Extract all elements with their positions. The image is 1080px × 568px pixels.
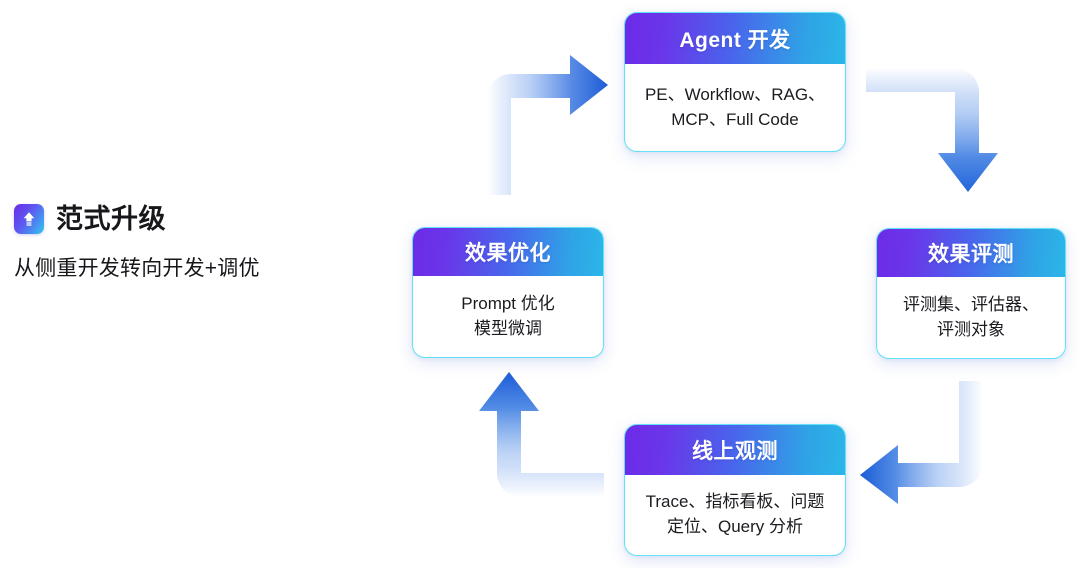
- card-body: Prompt 优化 模型微调: [413, 276, 603, 357]
- card-title: 效果评测: [877, 229, 1065, 277]
- arrow-up-badge-icon: [14, 204, 44, 234]
- card-body-line: PE、Workflow、RAG、: [645, 83, 825, 108]
- card-body-line: 评测对象: [903, 318, 1039, 343]
- card-body-line: 模型微调: [461, 317, 555, 342]
- card-body: 评测集、评估器、 评测对象: [877, 277, 1065, 358]
- card-body-line: Prompt 优化: [461, 292, 555, 317]
- card-body-line: Trace、指标看板、问题: [646, 490, 825, 515]
- card-effect-optimization[interactable]: 效果优化 Prompt 优化 模型微调: [412, 227, 604, 358]
- card-body-line: MCP、Full Code: [645, 108, 825, 133]
- arrow-optimize-to-agent: [487, 55, 608, 195]
- card-title: Agent 开发: [625, 13, 845, 64]
- arrow-agent-to-eval: [866, 68, 998, 192]
- card-body-line: 评测集、评估器、: [903, 293, 1039, 318]
- arrow-eval-to-observe: [860, 381, 983, 504]
- card-body: Trace、指标看板、问题 定位、Query 分析: [625, 475, 845, 555]
- card-body: PE、Workflow、RAG、 MCP、Full Code: [625, 64, 845, 151]
- card-title: 线上观测: [625, 425, 845, 475]
- card-online-observation[interactable]: 线上观测 Trace、指标看板、问题 定位、Query 分析: [624, 424, 846, 556]
- card-body-line: 定位、Query 分析: [646, 515, 825, 540]
- arrow-observe-to-optimize: [479, 372, 604, 497]
- card-effect-evaluation[interactable]: 效果评测 评测集、评估器、 评测对象: [876, 228, 1066, 359]
- panel-heading-row: 范式升级: [14, 204, 374, 234]
- page-title: 范式升级: [56, 206, 166, 233]
- card-title: 效果优化: [413, 228, 603, 276]
- panel-subtitle: 从侧重开发转向开发+调优: [14, 255, 374, 282]
- paradigm-upgrade-panel: 范式升级 从侧重开发转向开发+调优: [14, 204, 374, 282]
- card-agent-development[interactable]: Agent 开发 PE、Workflow、RAG、 MCP、Full Code: [624, 12, 846, 152]
